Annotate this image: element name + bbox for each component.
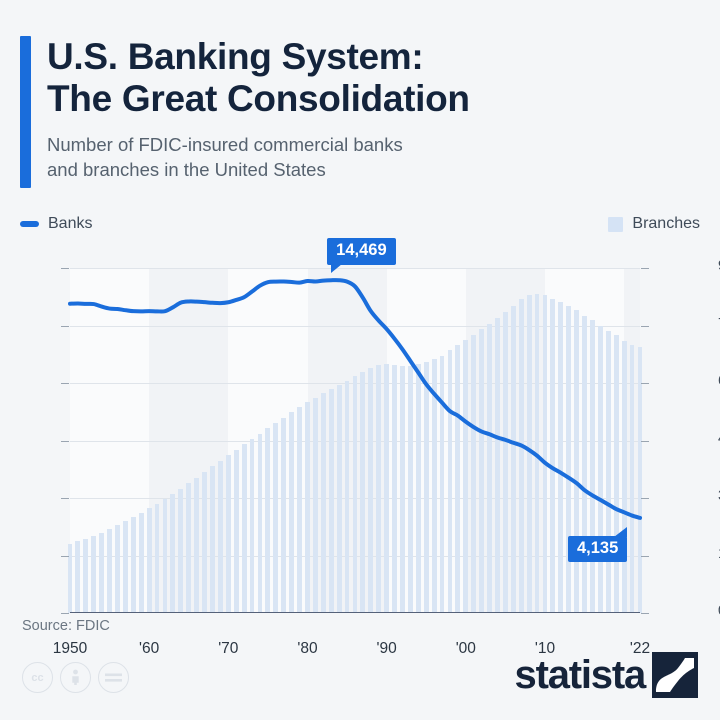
source-note: Source: FDIC (22, 618, 110, 634)
statista-logo-mark (652, 652, 698, 698)
y-axis-left-tick-mark (61, 326, 69, 327)
x-axis-tick-label: '90 (377, 640, 397, 658)
y-axis-left-tick-mark (61, 441, 69, 442)
legend-label-branches: Branches (632, 215, 700, 233)
y-axis-right-tick-mark (641, 498, 649, 499)
bar-swatch-icon (608, 217, 623, 232)
x-axis-line (70, 612, 640, 614)
y-axis-right-tick-mark (641, 326, 649, 327)
page-subtitle: Number of FDIC-insured commercial banks … (47, 133, 470, 182)
line-swatch-icon (20, 221, 39, 227)
statista-logo[interactable]: statista (515, 652, 698, 698)
y-axis-right-tick-mark (641, 556, 649, 557)
callout-tail-icon (331, 264, 342, 273)
creative-commons-icon[interactable]: cc (22, 662, 53, 693)
y-axis-right-tick-mark (641, 383, 649, 384)
infographic-root: U.S. Banking System: The Great Consolida… (0, 0, 720, 720)
x-axis-tick-label: '70 (218, 640, 238, 658)
y-axis-right-tick-mark (641, 268, 649, 269)
y-axis-right-tick-mark (641, 613, 649, 614)
no-derivatives-equals-icon[interactable] (98, 662, 129, 693)
header: U.S. Banking System: The Great Consolida… (0, 0, 720, 188)
title-accent-bar (20, 36, 31, 188)
x-axis-tick-label: 1950 (53, 640, 87, 658)
x-axis-tick-label: '80 (297, 640, 317, 658)
chart-legend: Banks Branches (20, 212, 700, 236)
license-icons: cc (22, 662, 129, 693)
legend-item-branches[interactable]: Branches (608, 215, 700, 233)
callout-tail-icon (614, 527, 627, 537)
plot-area: 02,5005,0007,50010,00012,50015,000 015,0… (70, 268, 640, 613)
value-callout: 14,469 (327, 238, 395, 264)
chart-area: 02,5005,0007,50010,00012,50015,000 015,0… (0, 248, 720, 596)
y-axis-left-tick-mark (61, 556, 69, 557)
statista-wordmark: statista (515, 655, 645, 695)
y-axis-left-tick-mark (61, 613, 69, 614)
x-axis-tick-label: '60 (139, 640, 159, 658)
page-title: U.S. Banking System: The Great Consolida… (47, 36, 470, 120)
attribution-person-icon[interactable] (60, 662, 91, 693)
y-axis-left-tick-mark (61, 268, 69, 269)
y-axis-left-tick-mark (61, 383, 69, 384)
banks-line-path (70, 280, 640, 518)
legend-item-banks[interactable]: Banks (20, 215, 92, 233)
legend-label-banks: Banks (48, 215, 92, 233)
y-axis-right-tick-mark (641, 441, 649, 442)
header-text: U.S. Banking System: The Great Consolida… (47, 36, 470, 188)
banks-line-series (70, 268, 640, 613)
value-callout: 4,135 (568, 536, 627, 562)
x-axis-tick-label: '00 (456, 640, 476, 658)
y-axis-left-tick-mark (61, 498, 69, 499)
